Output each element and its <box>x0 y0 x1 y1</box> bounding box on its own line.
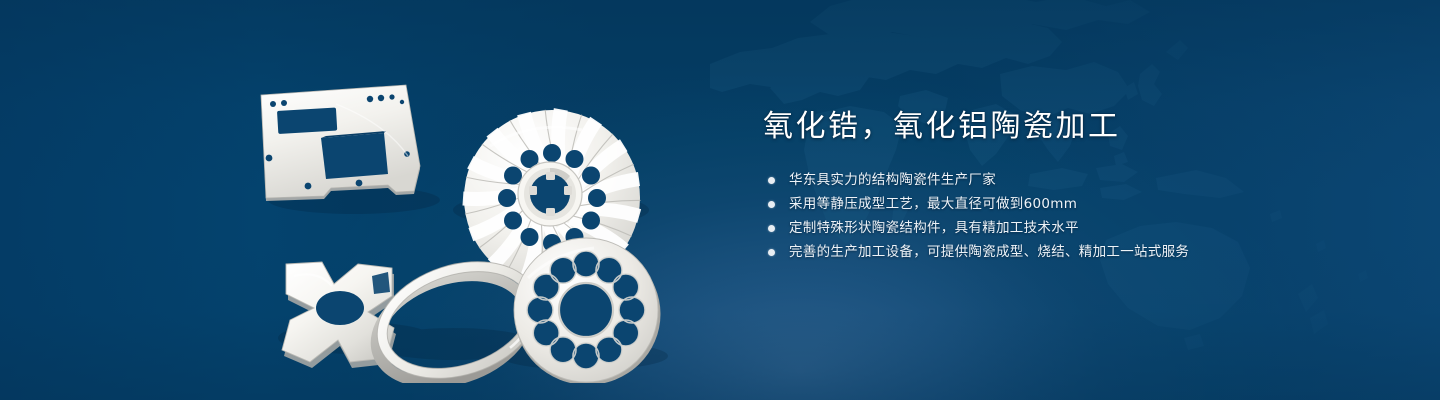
list-item: 采用等静压成型工艺，最大直径可做到600mm <box>763 194 1363 215</box>
list-item: 定制特殊形状陶瓷结构件，具有精加工技术水平 <box>763 218 1363 239</box>
part-ceramic-plate <box>261 85 420 201</box>
bullet-dot-icon <box>768 177 775 184</box>
feature-text: 采用等静压成型工艺，最大直径可做到600mm <box>789 194 1077 215</box>
bullet-dot-icon <box>768 201 775 208</box>
feature-list: 华东具实力的结构陶瓷件生产厂家 采用等静压成型工艺，最大直径可做到600mm 定… <box>763 170 1363 263</box>
hero-banner: 氧化锆，氧化铝陶瓷加工 华东具实力的结构陶瓷件生产厂家 采用等静压成型工艺，最大… <box>0 0 1440 400</box>
bullet-dot-icon <box>768 249 775 256</box>
part-ceramic-disc <box>514 238 661 383</box>
page-title: 氧化锆，氧化铝陶瓷加工 <box>763 108 1363 146</box>
list-item: 完善的生产加工设备，可提供陶瓷成型、烧结、精加工一站式服务 <box>763 242 1363 263</box>
feature-text: 定制特殊形状陶瓷结构件，具有精加工技术水平 <box>789 218 1079 239</box>
bullet-dot-icon <box>768 225 775 232</box>
ceramic-products-image <box>236 38 696 383</box>
banner-text-block: 氧化锆，氧化铝陶瓷加工 华东具实力的结构陶瓷件生产厂家 采用等静压成型工艺，最大… <box>763 108 1363 266</box>
feature-text: 完善的生产加工设备，可提供陶瓷成型、烧结、精加工一站式服务 <box>789 242 1189 263</box>
feature-text: 华东具实力的结构陶瓷件生产厂家 <box>789 170 996 191</box>
list-item: 华东具实力的结构陶瓷件生产厂家 <box>763 170 1363 191</box>
